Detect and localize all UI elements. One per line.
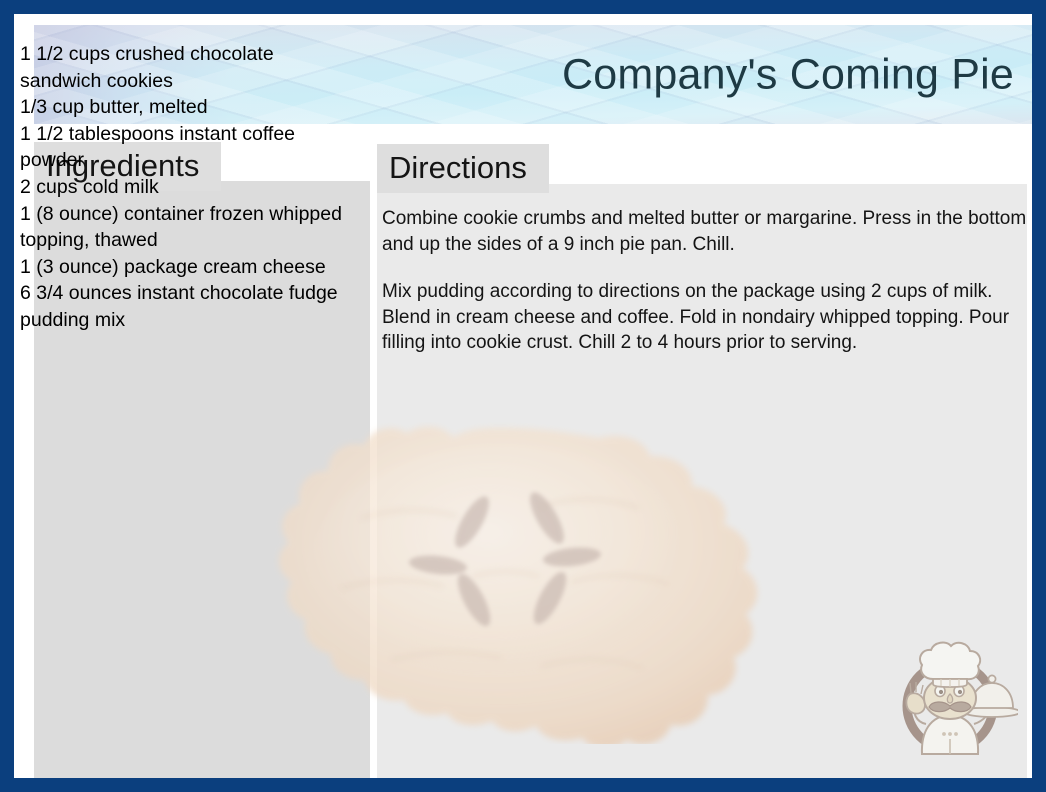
ingredients-list: 1 1/2 cups crushed chocolate sandwich co…	[20, 41, 346, 334]
list-item: 1/3 cup butter, melted	[20, 94, 346, 121]
list-item: 6 3/4 ounces instant chocolate fudge pud…	[20, 280, 346, 333]
directions-text: Combine cookie crumbs and melted butter …	[382, 206, 1027, 356]
list-item: 1 1/2 tablespoons instant coffee powder	[20, 121, 346, 174]
recipe-card: Company's Coming Pie Ingredients 1 1/2 c…	[0, 0, 1046, 792]
list-item: 2 cups cold milk	[20, 174, 346, 201]
directions-paragraph: Combine cookie crumbs and melted butter …	[382, 206, 1027, 257]
recipe-title: Company's Coming Pie	[562, 53, 1014, 96]
list-item: 1 (8 ounce) container frozen whipped top…	[20, 201, 346, 254]
list-item: 1 (3 ounce) package cream cheese	[20, 254, 346, 281]
directions-paragraph: Mix pudding according to directions on t…	[382, 279, 1027, 356]
directions-section-header: Directions	[377, 144, 549, 193]
list-item: 1 1/2 cups crushed chocolate sandwich co…	[20, 41, 346, 94]
